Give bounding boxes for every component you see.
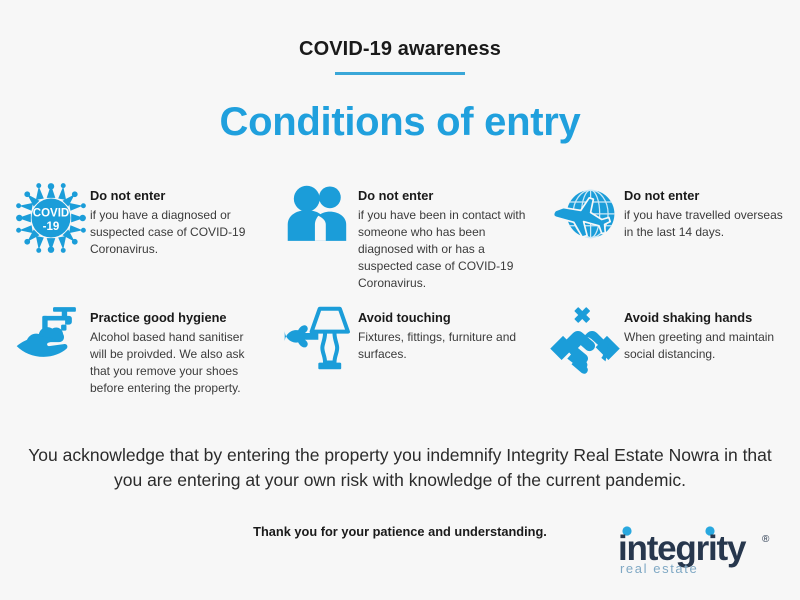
condition-title: Do not enter	[358, 188, 528, 204]
poster-header: COVID-19 awareness Conditions of entry	[0, 0, 800, 143]
covid-icon-label-top: COVID	[33, 208, 69, 220]
covid-conditions-poster: COVID-19 awareness Conditions of entry	[0, 0, 800, 600]
header-divider	[335, 72, 465, 75]
logo-registered-mark: ®	[762, 534, 770, 545]
no-handshake-icon	[546, 302, 624, 382]
condition-body: if you have travelled overseas in the la…	[624, 207, 794, 241]
condition-item-practice-good-hygiene: Practice good hygiene Alcohol based hand…	[0, 302, 268, 397]
two-people-icon	[280, 180, 358, 244]
conditions-row-1: COVID -19 Do not enter if you have a dia…	[0, 180, 800, 292]
condition-body: if you have a diagnosed or suspected cas…	[90, 207, 262, 258]
condition-title: Avoid shaking hands	[624, 310, 794, 326]
condition-title: Do not enter	[624, 188, 794, 204]
page-title: Conditions of entry	[0, 101, 800, 143]
condition-item-do-not-enter-travel: Do not enter if you have travelled overs…	[534, 180, 800, 292]
condition-item-do-not-enter-diagnosed: COVID -19 Do not enter if you have a dia…	[0, 180, 268, 292]
covid-virus-icon: COVID -19	[12, 180, 90, 254]
logo-tagline: real estate	[620, 561, 698, 576]
condition-body: Fixtures, fittings, furniture and surfac…	[358, 329, 528, 363]
condition-text: Practice good hygiene Alcohol based hand…	[90, 302, 262, 397]
condition-body: When greeting and maintain social distan…	[624, 329, 794, 363]
eyebrow-title: COVID-19 awareness	[0, 38, 800, 60]
lamp-pointing-hand-icon	[280, 302, 358, 370]
condition-item-avoid-touching: Avoid touching Fixtures, fittings, furni…	[268, 302, 534, 397]
integrity-real-estate-logo: integrity ® real estate	[614, 524, 776, 578]
condition-title: Practice good hygiene	[90, 310, 262, 326]
globe-airplane-icon	[546, 180, 624, 250]
condition-body: Alcohol based hand sanitiser will be pro…	[90, 329, 262, 397]
condition-title: Do not enter	[90, 188, 262, 204]
condition-text: Avoid touching Fixtures, fittings, furni…	[358, 302, 528, 363]
acknowledgement-text: You acknowledge that by entering the pro…	[0, 443, 800, 493]
condition-text: Do not enter if you have been in contact…	[358, 180, 528, 292]
condition-item-avoid-shaking-hands: Avoid shaking hands When greeting and ma…	[534, 302, 800, 397]
condition-text: Do not enter if you have travelled overs…	[624, 180, 794, 241]
condition-title: Avoid touching	[358, 310, 528, 326]
condition-text: Do not enter if you have a diagnosed or …	[90, 180, 262, 258]
condition-body: if you have been in contact with someone…	[358, 207, 528, 292]
covid-icon-label-bottom: -19	[43, 221, 60, 233]
conditions-row-2: Practice good hygiene Alcohol based hand…	[0, 302, 800, 397]
conditions-grid: COVID -19 Do not enter if you have a dia…	[0, 180, 800, 397]
condition-text: Avoid shaking hands When greeting and ma…	[624, 302, 794, 363]
condition-item-do-not-enter-contact: Do not enter if you have been in contact…	[268, 180, 534, 292]
handwash-tap-icon	[12, 302, 90, 364]
